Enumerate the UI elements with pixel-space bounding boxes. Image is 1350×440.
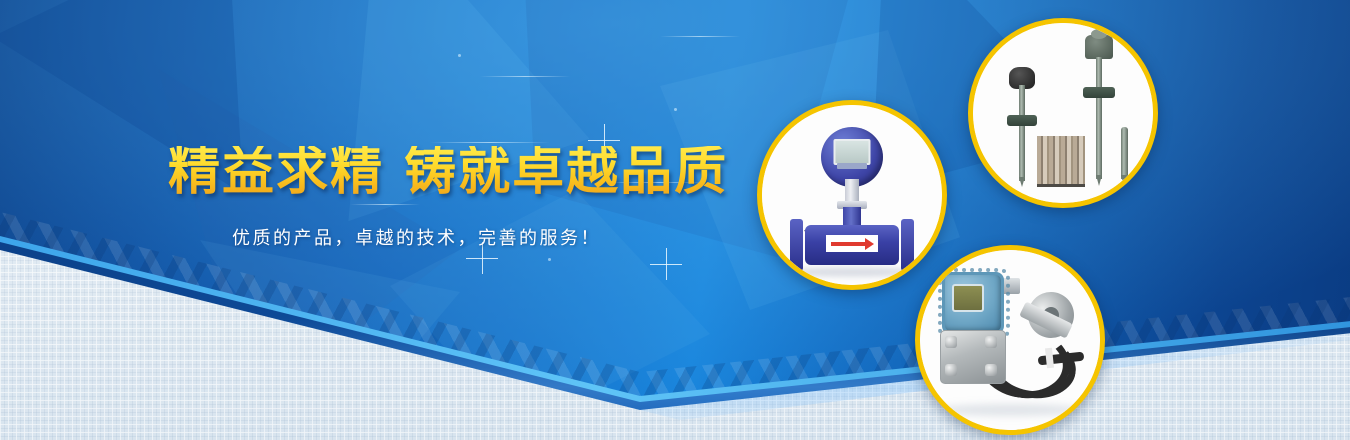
promo-banner: 精益求精 铸就卓越品质 优质的产品，卓越的技术，完善的服务！ [0,0,1350,440]
probe-rod-left [1019,85,1025,181]
flowmeter-display [834,139,871,165]
product-image-differential-pressure-transmitter [920,250,1100,430]
product-circle-differential-pressure-transmitter[interactable] [915,245,1105,435]
probe-rod-right [1096,57,1102,179]
manifold-bolt [985,364,997,376]
probe-head-cap-right [1091,29,1107,39]
flowmeter-flange-right [901,219,914,271]
page-subtitle: 优质的产品，卓越的技术，完善的服务！ [232,224,601,250]
glow-dot [674,108,677,111]
flowmeter-flange-left [790,219,803,271]
probe-flange-left [1007,115,1037,126]
arrow-tip [865,238,874,250]
product-image-electromagnetic-flowmeter [762,105,942,285]
probe-rod-slim [1121,127,1128,179]
probe-tip-slim [1121,175,1127,186]
manifold-bolt [985,336,997,348]
probe-tip-left [1019,177,1025,187]
probe-flange-right [1083,87,1115,98]
manifold-bolt [945,364,957,376]
arrow-shaft [831,242,865,246]
flow-direction-arrow-icon [826,235,878,252]
transmitter-display [952,284,984,312]
page-title: 精益求精 铸就卓越品质 [168,146,728,198]
glow-dot [548,258,551,261]
light-streak [660,36,740,37]
light-streak [350,204,420,205]
flowmeter-buttons [837,163,867,169]
product-shadow [936,404,1084,416]
probe-sheath-bundle [1037,136,1085,187]
probe-tip-right [1096,175,1102,186]
product-circle-temperature-sensor-probes[interactable] [968,18,1158,208]
product-image-temperature-sensor-probes [973,23,1153,203]
product-circle-electromagnetic-flowmeter[interactable] [757,100,947,290]
glow-dot [458,54,461,57]
light-streak [480,76,570,77]
manifold-bolt [945,336,957,348]
